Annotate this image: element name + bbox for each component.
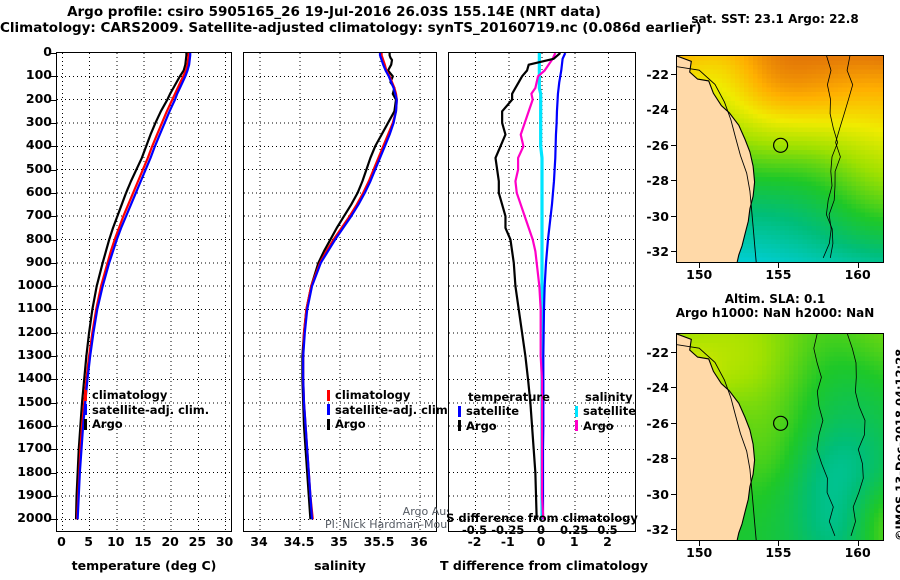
legend-label: climatology [335, 388, 410, 403]
depth-tick-label: 700 [0, 210, 52, 220]
legend-item: Argo [84, 417, 209, 432]
sla-lat-label: -28 [636, 451, 669, 466]
legend-label: Argo [92, 417, 123, 432]
legend-label: Argo [583, 419, 614, 434]
sst-lat-tick [671, 145, 676, 146]
sst-lat-tick [671, 216, 676, 217]
difference-legend-header-salinity: salinity [585, 390, 633, 404]
sla-title-line-1: Altim. SLA: 0.1 [660, 292, 890, 306]
sla-lon-tick [858, 541, 859, 546]
legend-color-swatch [84, 404, 87, 415]
depth-tick-mark [50, 170, 56, 171]
t-difference-tick-label: 0 [523, 536, 559, 548]
legend-label: climatology [92, 388, 167, 403]
depth-tick-label: 800 [0, 234, 52, 244]
sst-lat-label: -26 [636, 138, 669, 153]
depth-tick-label: 1600 [0, 420, 52, 430]
sla-lat-tick [671, 494, 676, 495]
salinity-tick-label: 36 [397, 536, 441, 548]
depth-tick-mark [50, 449, 56, 450]
legend-label: satellite-adj. clim. [92, 403, 209, 418]
legend-color-swatch [84, 419, 87, 430]
depth-tick-label: 1300 [0, 350, 52, 360]
copyright-text: ©IMOS 13-Dec-2018 04:12:28 [893, 349, 900, 541]
sst-lat-label: -22 [636, 67, 669, 82]
sla-lat-tick [671, 387, 676, 388]
legend-item: satellite-adj. clim. [84, 403, 209, 418]
depth-tick-mark [50, 333, 56, 334]
sla-map [676, 333, 884, 541]
sla-lon-label: 150 [679, 545, 719, 560]
sla-lat-tick [671, 352, 676, 353]
legend-item: climatology [327, 388, 452, 403]
salinity-tick-label: 34.5 [277, 536, 321, 548]
depth-tick-label: 300 [0, 117, 52, 127]
temperature-axis-title: temperature (deg C) [56, 558, 232, 573]
depth-tick-mark [50, 473, 56, 474]
depth-tick-mark [50, 216, 56, 217]
depth-tick-mark [50, 123, 56, 124]
sla-lat-tick [671, 458, 676, 459]
depth-tick-label: 1200 [0, 327, 52, 337]
sst-lat-label: -24 [636, 102, 669, 117]
sla-lat-tick [671, 529, 676, 530]
sst-map-title: sat. SST: 23.1 Argo: 22.8 [660, 12, 890, 26]
temperature-profile-panel [56, 52, 232, 532]
sst-lat-tick [671, 74, 676, 75]
salinity-tick-label: 35.5 [357, 536, 401, 548]
sst-lat-tick [671, 180, 676, 181]
difference-profile-panel [448, 52, 636, 532]
sst-lat-label: -28 [636, 173, 669, 188]
salinity-tick-label: 34 [237, 536, 281, 548]
depth-tick-label: 1800 [0, 467, 52, 477]
depth-tick-label: 1500 [0, 397, 52, 407]
legend-color-swatch [458, 406, 461, 417]
sst-lon-label: 160 [838, 267, 878, 282]
sla-map-title: Altim. SLA: 0.1 Argo h1000: NaN h2000: N… [660, 292, 890, 320]
depth-tick-label: 0 [0, 47, 52, 57]
legend-label: satellite-adj. clim. [335, 403, 452, 418]
legend-item: Argo [575, 419, 636, 434]
depth-tick-mark [50, 193, 56, 194]
depth-tick-mark [50, 519, 56, 520]
depth-tick-label: 1100 [0, 303, 52, 313]
sst-map [676, 55, 884, 263]
depth-tick-label: 400 [0, 140, 52, 150]
depth-tick-label: 1400 [0, 373, 52, 383]
difference-legend-temperature: satelliteArgo [458, 404, 519, 433]
depth-tick-mark [50, 309, 56, 310]
difference-legend-header-temperature: temperature [468, 390, 550, 404]
sst-lon-label: 155 [758, 267, 798, 282]
sla-lon-tick [778, 541, 779, 546]
depth-tick-label: 100 [0, 70, 52, 80]
depth-tick-mark [50, 356, 56, 357]
depth-tick-mark [50, 496, 56, 497]
legend-label: satellite [583, 404, 636, 419]
depth-tick-label: 1700 [0, 443, 52, 453]
title-line-2: Climatology: CARS2009. Satellite-adjuste… [0, 20, 668, 36]
legend-label: Argo [466, 419, 497, 434]
depth-tick-mark [50, 146, 56, 147]
salinity-legend: climatologysatellite-adj. clim.Argo [327, 388, 452, 432]
depth-tick-label: 200 [0, 94, 52, 104]
legend-item: climatology [84, 388, 209, 403]
sla-lat-label: -24 [636, 380, 669, 395]
depth-tick-mark [50, 426, 56, 427]
sla-lon-tick [699, 541, 700, 546]
sla-lon-label: 155 [758, 545, 798, 560]
depth-tick-label: 500 [0, 164, 52, 174]
page-title: Argo profile: csiro 5905165_26 19-Jul-20… [0, 4, 668, 36]
legend-color-swatch [84, 390, 87, 401]
salinity-axis-title: salinity [243, 558, 437, 573]
sla-lat-label: -22 [636, 345, 669, 360]
sst-lat-label: -30 [636, 209, 669, 224]
depth-tick-mark [50, 100, 56, 101]
depth-tick-label: 900 [0, 257, 52, 267]
sla-title-line-2: Argo h1000: NaN h2000: NaN [660, 306, 890, 320]
depth-tick-mark [50, 286, 56, 287]
depth-tick-mark [50, 53, 56, 54]
depth-tick-mark [50, 403, 56, 404]
salinity-tick-label: 35 [317, 536, 361, 548]
depth-tick-mark [50, 76, 56, 77]
t-difference-axis-title: T difference from climatology [440, 558, 644, 573]
legend-item: satellite-adj. clim. [327, 403, 452, 418]
sla-lat-label: -32 [636, 522, 669, 537]
legend-label: Argo [335, 417, 366, 432]
salinity-profile-panel [243, 52, 437, 532]
sla-lat-label: -30 [636, 487, 669, 502]
legend-item: satellite [575, 404, 636, 419]
legend-item: Argo [458, 419, 519, 434]
temperature-legend: climatologysatellite-adj. clim.Argo [84, 388, 209, 432]
difference-legend-salinity: satelliteArgo [575, 404, 636, 433]
sst-lat-tick [671, 251, 676, 252]
depth-tick-mark [50, 379, 56, 380]
depth-tick-label: 2000 [0, 513, 52, 523]
legend-color-swatch [575, 420, 578, 431]
depth-tick-label: 600 [0, 187, 52, 197]
depth-tick-label: 1000 [0, 280, 52, 290]
sst-lon-tick [858, 263, 859, 268]
depth-tick-mark [50, 240, 56, 241]
t-difference-tick-label: -2 [457, 536, 493, 548]
s-difference-tick-label: 0.5 [585, 524, 629, 536]
legend-color-swatch [458, 420, 461, 431]
legend-color-swatch [327, 404, 330, 415]
depth-tick-mark [50, 263, 56, 264]
sst-lon-tick [778, 263, 779, 268]
t-difference-tick-label: 1 [556, 536, 592, 548]
depth-tick-label: 1900 [0, 490, 52, 500]
legend-color-swatch [327, 390, 330, 401]
sla-lat-tick [671, 423, 676, 424]
t-difference-tick-label: -1 [490, 536, 526, 548]
legend-color-swatch [327, 419, 330, 430]
t-difference-tick-label: 2 [589, 536, 625, 548]
sla-lon-label: 160 [838, 545, 878, 560]
title-line-1: Argo profile: csiro 5905165_26 19-Jul-20… [0, 4, 668, 20]
sst-lat-tick [671, 109, 676, 110]
sla-lat-label: -26 [636, 416, 669, 431]
legend-label: satellite [466, 404, 519, 419]
sst-lon-label: 150 [679, 267, 719, 282]
legend-item: Argo [327, 417, 452, 432]
sst-lon-tick [699, 263, 700, 268]
legend-color-swatch [575, 406, 578, 417]
sst-lat-label: -32 [636, 244, 669, 259]
legend-item: satellite [458, 404, 519, 419]
